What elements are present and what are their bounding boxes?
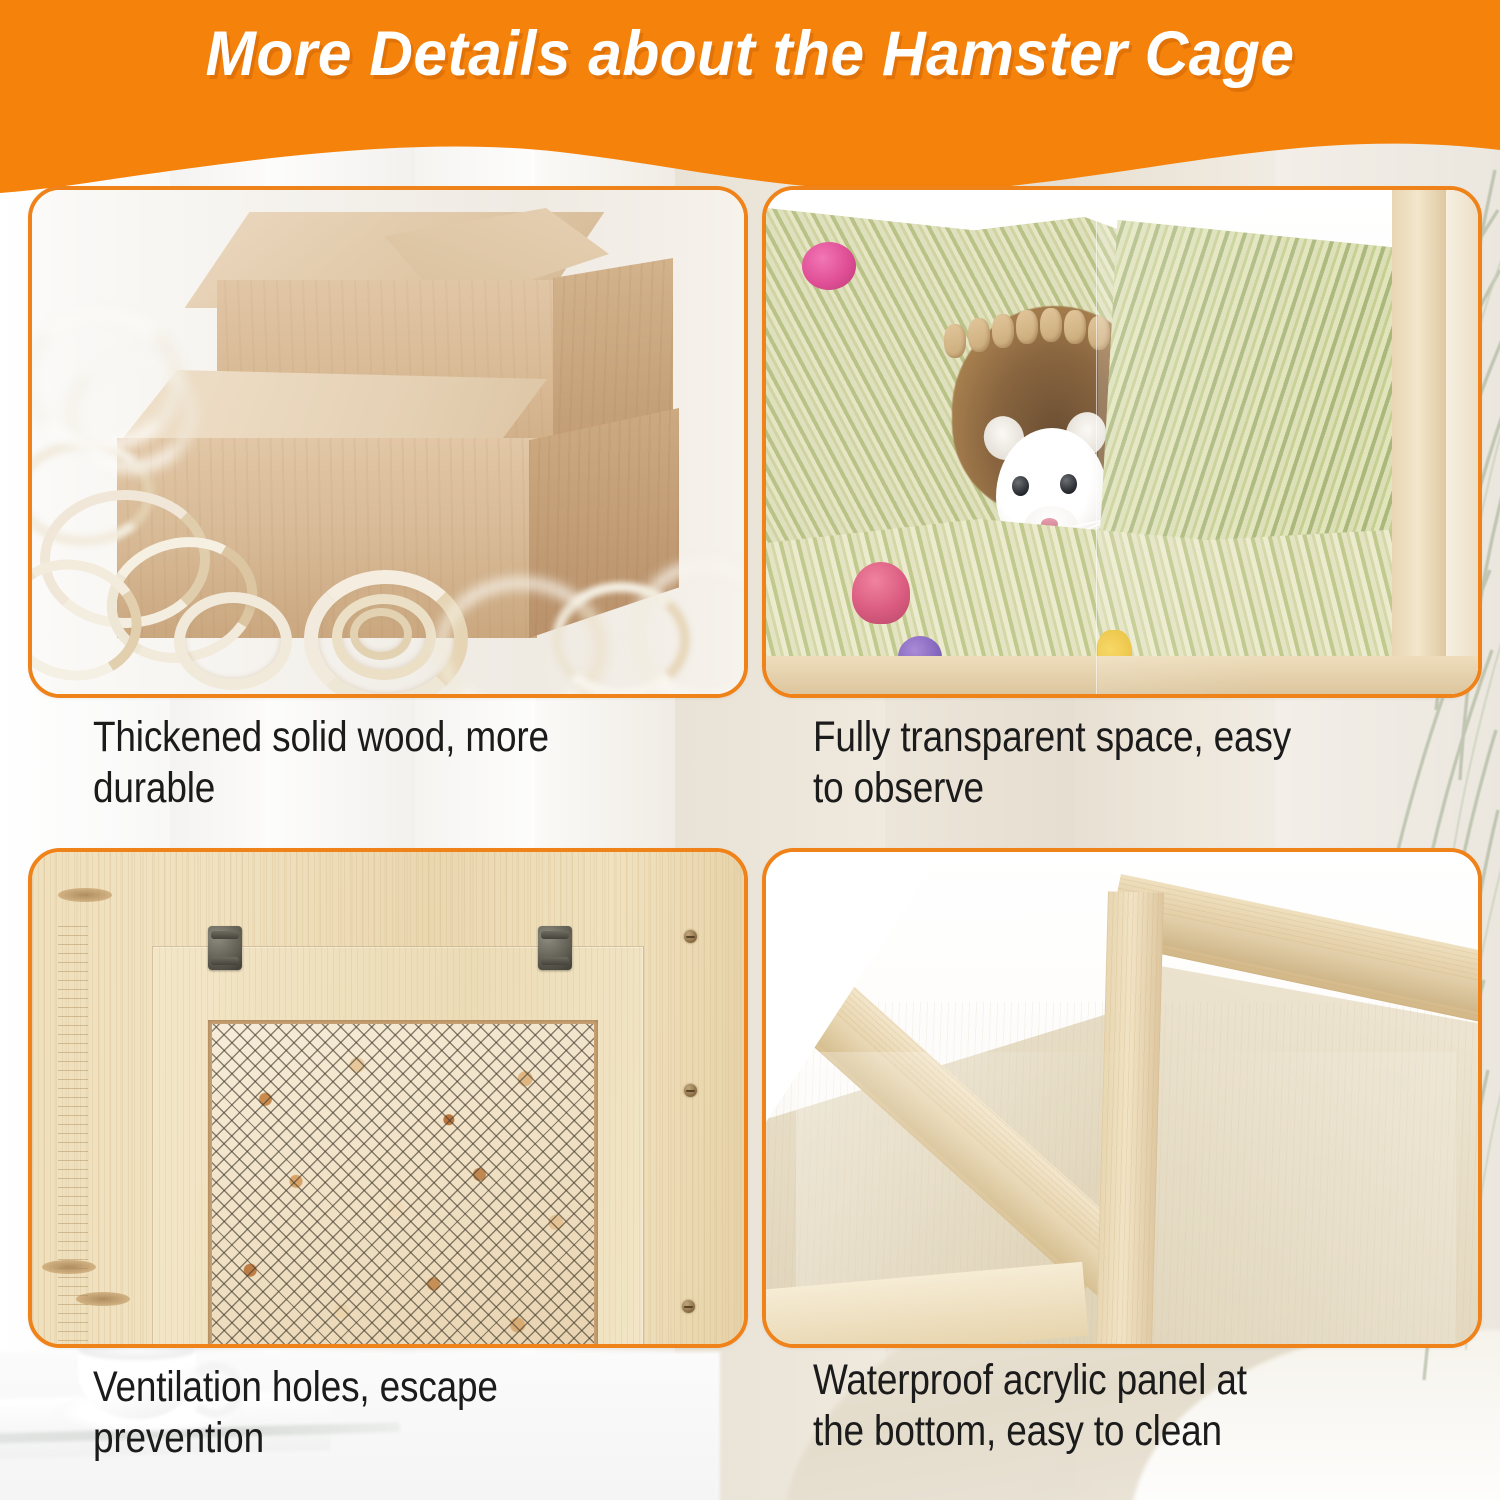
acrylic-bottom-photo: [766, 852, 1478, 1344]
dried-flower: [802, 242, 856, 290]
feature-caption-solid-wood: Thickened solid wood, more durable: [93, 712, 798, 813]
wood-knot: [58, 888, 112, 902]
door-hinge-left: [208, 926, 242, 970]
wood-shaving: [174, 592, 292, 690]
acrylic-panel-edge: [1096, 190, 1097, 694]
feature-card-solid-wood[interactable]: [28, 186, 748, 698]
hamster-eye-right: [1060, 474, 1077, 494]
feature-card-acrylic-bottom[interactable]: [762, 848, 1482, 1348]
feature-caption-acrylic-bottom: Waterproof acrylic panel at the bottom, …: [813, 1355, 1500, 1456]
screw: [684, 930, 697, 943]
ventilation-mesh-window: [208, 1020, 598, 1344]
dried-flower: [852, 562, 910, 624]
feature-caption-ventilation: Ventilation holes, escape prevention: [93, 1362, 798, 1463]
hamster-in-hay-photo: [766, 190, 1478, 694]
door-left-edge: [58, 926, 88, 1344]
hamster-eye-left: [1012, 476, 1029, 496]
ventilation-door-photo: [32, 852, 744, 1344]
feature-caption-transparent-space: Fully transparent space, easy to observe: [813, 712, 1500, 813]
door-hinge-right: [538, 926, 572, 970]
wood-blocks-photo: [32, 190, 744, 694]
acrylic-sheen: [1098, 190, 1458, 694]
wire-mesh-icon: [212, 1024, 594, 1344]
feature-card-transparent-space[interactable]: [762, 186, 1482, 698]
screw: [684, 1084, 697, 1097]
wood-shaving-rose-core: [350, 608, 412, 660]
screw: [682, 1300, 695, 1313]
feature-card-ventilation[interactable]: [28, 848, 748, 1348]
